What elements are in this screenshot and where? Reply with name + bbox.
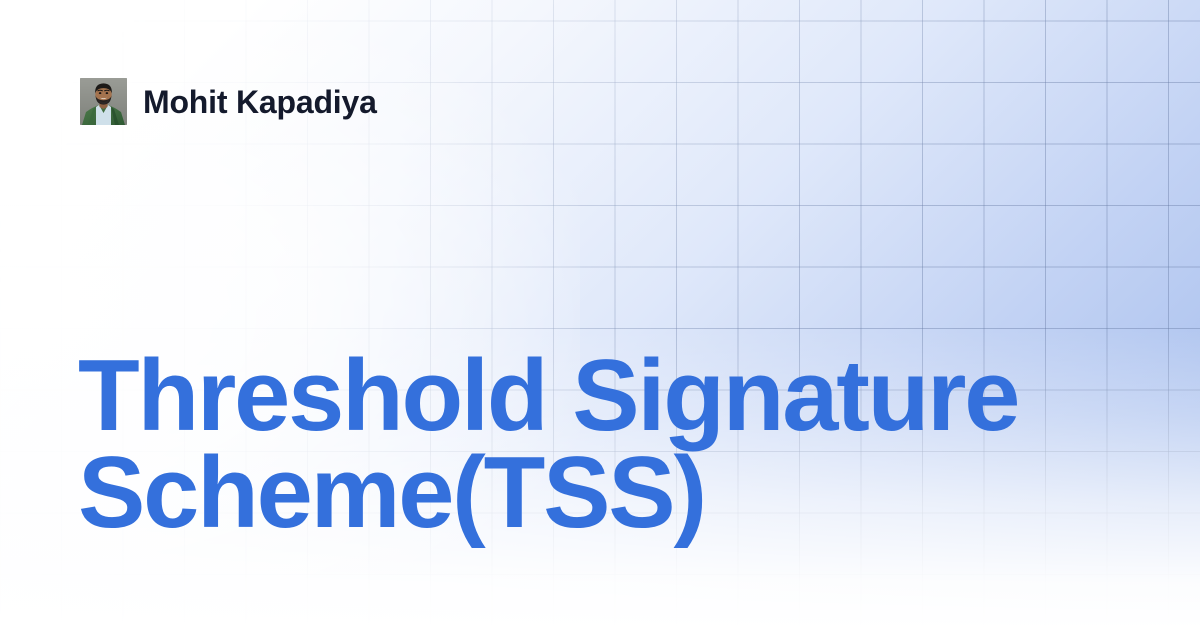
avatar (80, 78, 127, 125)
og-card: Mohit Kapadiya Threshold Signature Schem… (0, 0, 1200, 630)
author-row: Mohit Kapadiya (80, 78, 377, 125)
author-name: Mohit Kapadiya (143, 86, 377, 118)
page-title: Threshold Signature Scheme(TSS) (78, 348, 1088, 542)
